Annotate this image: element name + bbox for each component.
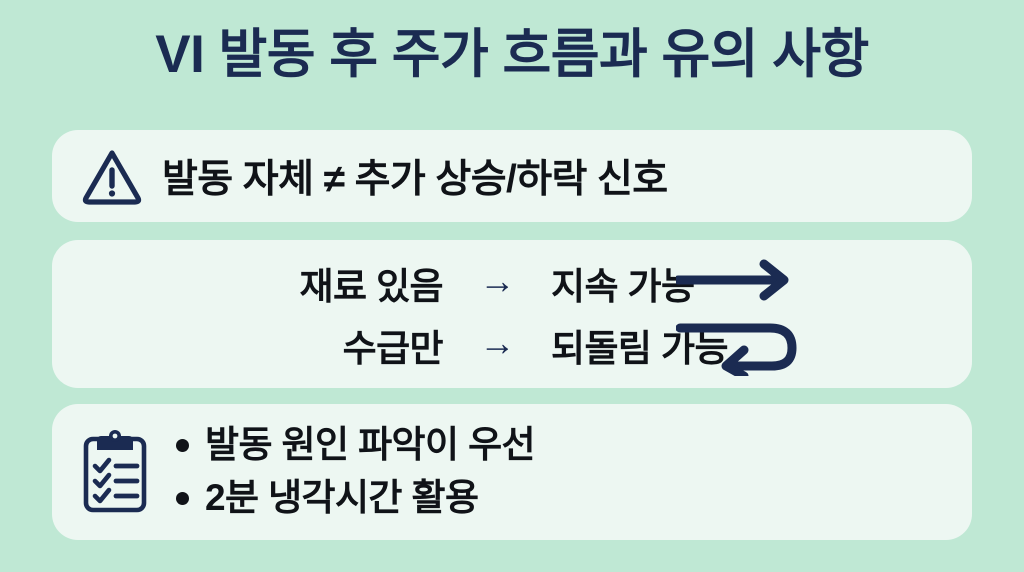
clipboard-checklist-icon (82, 430, 148, 514)
page-title: VI 발동 후 주가 흐름과 유의 사항 (0, 26, 1024, 83)
list-item-label: 발동 원인 파악이 우선 (205, 419, 535, 472)
card-warning: 발동 자체 ≠ 추가 상승/하락 신호 (52, 130, 972, 222)
arrow-right-icon: → (443, 322, 551, 364)
warning-triangle-icon (80, 146, 144, 206)
slide-root: VI 발동 후 주가 흐름과 유의 사항 발동 자체 ≠ 추가 상승/하락 신호… (0, 0, 1024, 572)
card-flow: 재료 있음 → 지속 가능 수급만 → 되돌림 가능 (52, 240, 972, 388)
card-checklist: 발동 원인 파악이 우선 2분 냉각시간 활용 (52, 404, 972, 540)
list-item: 발동 원인 파악이 우선 (176, 419, 535, 472)
bullet-dot-icon (176, 492, 189, 505)
list-item-label: 2분 냉각시간 활용 (205, 472, 478, 525)
arrows-decoration-icon (676, 254, 804, 376)
card-warning-text: 발동 자체 ≠ 추가 상승/하락 신호 (162, 148, 668, 204)
list-item: 2분 냉각시간 활용 (176, 472, 535, 525)
bullet-dot-icon (176, 439, 189, 452)
flow-row: 재료 있음 → 지속 가능 (52, 256, 972, 310)
checklist-bullets: 발동 원인 파악이 우선 2분 냉각시간 활용 (176, 419, 535, 524)
flow-from-label: 수급만 (223, 318, 443, 372)
flow-from-label: 재료 있음 (223, 256, 443, 310)
arrow-right-icon: → (443, 260, 551, 302)
flow-row: 수급만 → 되돌림 가능 (52, 318, 972, 372)
